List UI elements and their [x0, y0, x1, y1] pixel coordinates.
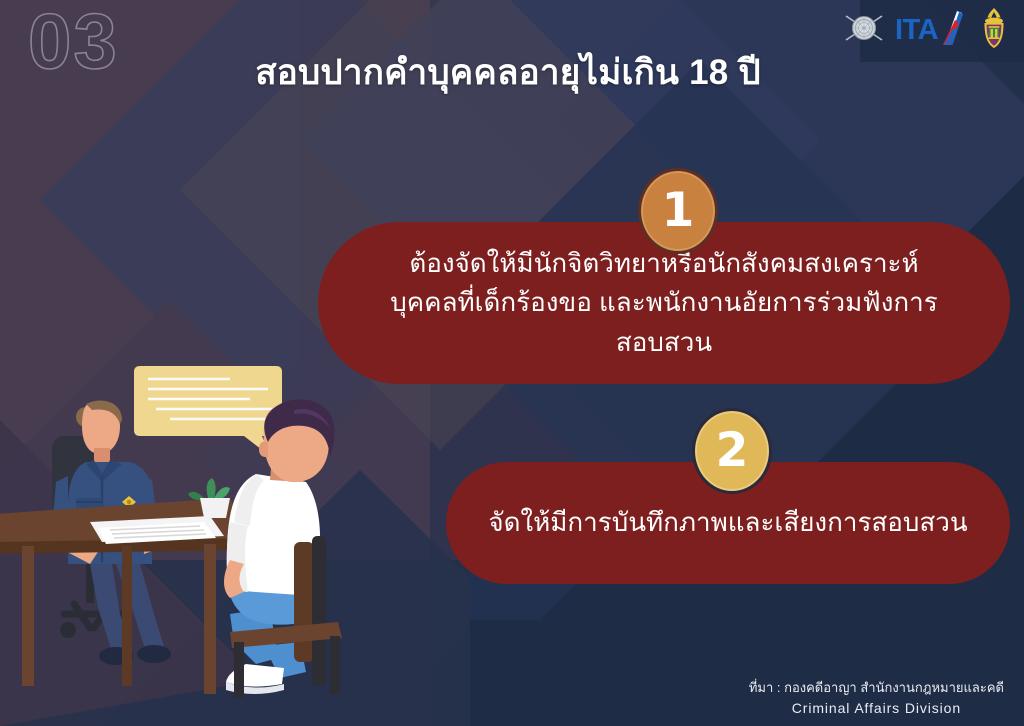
- item-card-2-text: จัดให้มีการบันทึกภาพและเสียงการสอบสวน: [446, 503, 1010, 543]
- ita-logo: ITA: [895, 6, 969, 55]
- logo-strip: ITA: [842, 6, 1010, 54]
- step-badge-2-number: 2: [716, 427, 749, 474]
- step-badge-2: 2: [692, 408, 772, 494]
- step-badge-1-number: 1: [662, 187, 695, 234]
- ministry-emblem-logo: [842, 6, 886, 55]
- page-title: สอบปากคำบุคคลอายุไม่เกิน 18 ปี: [178, 52, 838, 93]
- ita-logo-text: ITA: [895, 14, 939, 46]
- section-number: 03: [28, 2, 178, 84]
- step-badge-1: 1: [638, 168, 718, 254]
- item-card-2-line-1: จัดให้มีการบันทึกภาพและเสียงการสอบสวน: [472, 503, 984, 543]
- item-card-1-line-2: บุคคลที่เด็กร้องขอ และพนักงานอัยการร่วมฟ…: [344, 283, 984, 362]
- footer-division-line: Criminal Affairs Division: [749, 698, 1004, 718]
- royal-thai-police-emblem-logo: [978, 6, 1010, 55]
- item-card-1-text: ต้องจัดให้มีนักจิตวิทยาหรือนักสังคมสงเคร…: [318, 244, 1010, 363]
- slide-canvas: 03 สอบปากคำบุคคลอายุไม่เกิน 18 ปี: [0, 0, 1024, 726]
- section-number-text: 03: [28, 2, 119, 84]
- footer-source-line: ที่มา : กองคดีอาญา สำนักงานกฎหมายและคดี: [749, 679, 1004, 698]
- speech-bubble-icon: [134, 366, 282, 456]
- footer: ที่มา : กองคดีอาญา สำนักงานกฎหมายและคดี …: [749, 679, 1004, 718]
- police-interview-illustration: [0, 346, 394, 706]
